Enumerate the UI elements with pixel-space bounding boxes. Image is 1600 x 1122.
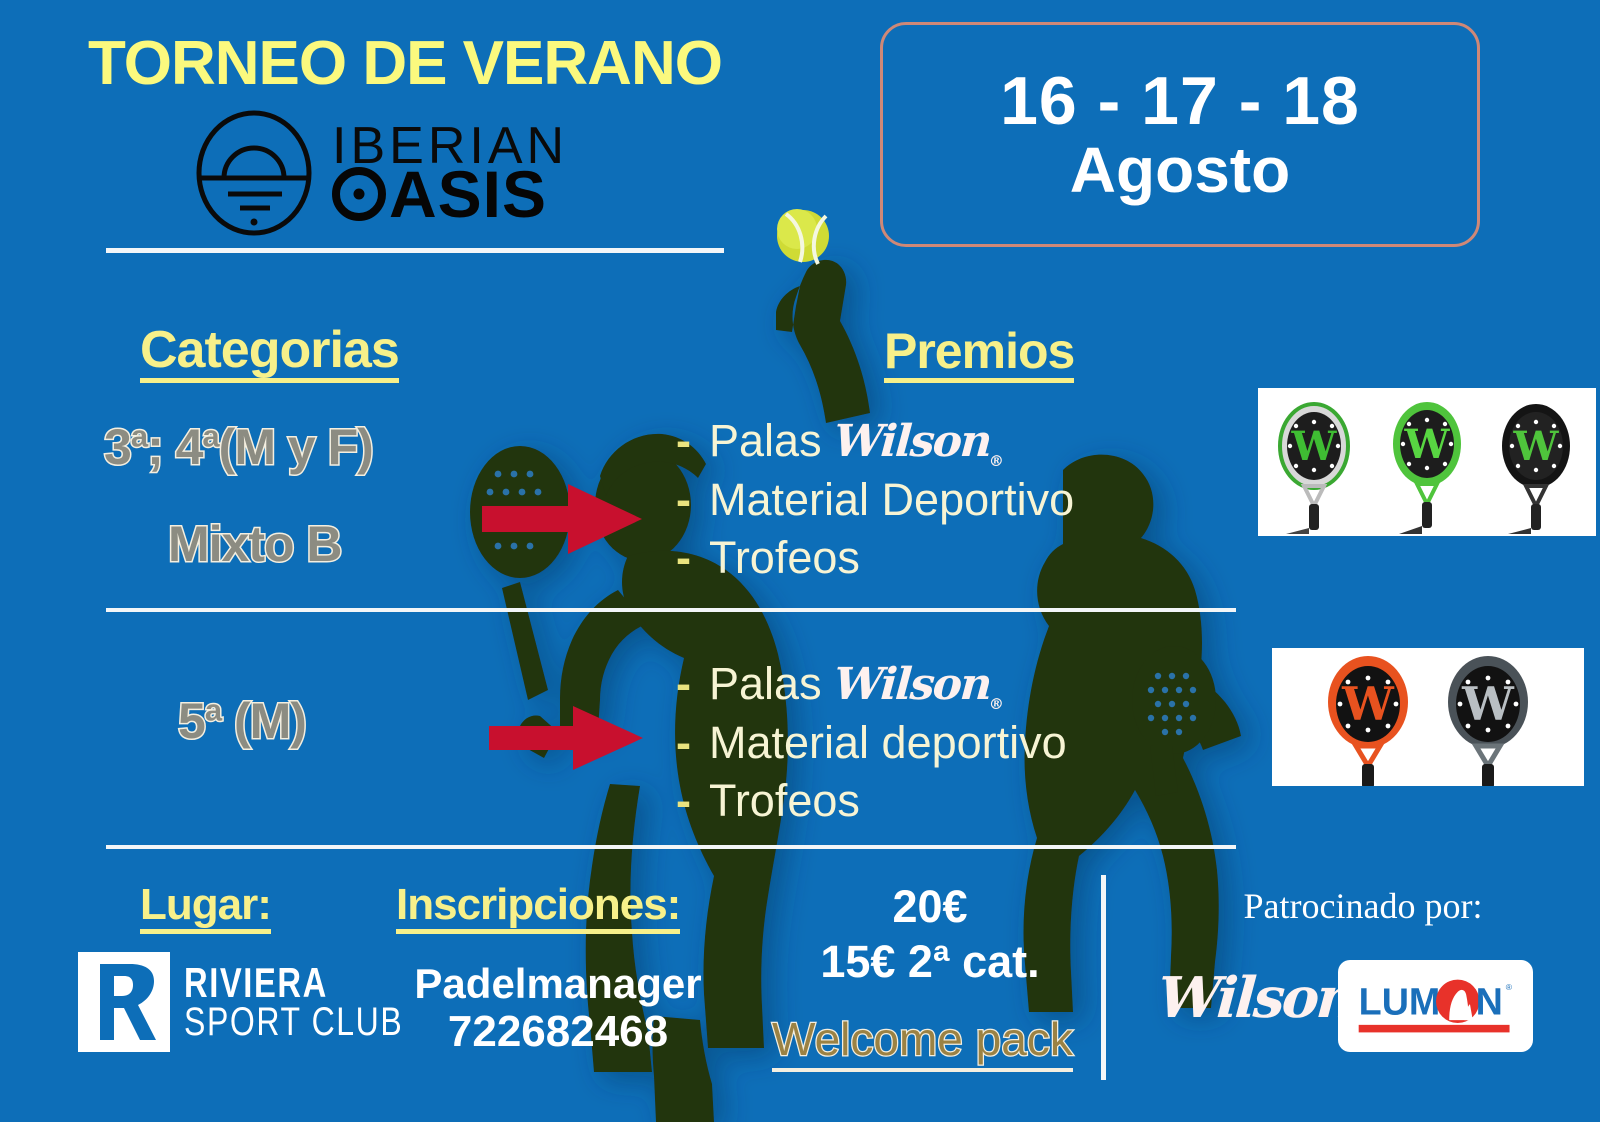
category-3-sup1: a (205, 692, 221, 727)
prize-dash: - (676, 412, 691, 470)
pricing-block: 20€ 15€ 2ª cat. (770, 880, 1090, 990)
prize-label: Palas (709, 658, 834, 709)
registration-phone: 722682468 (408, 1007, 708, 1056)
date-box: 16 - 17 - 18 Agosto (880, 22, 1480, 247)
venue-heading-text: Lugar: (140, 883, 271, 934)
registration-heading-text: Inscripciones: (396, 883, 680, 934)
price-second-category: 15€ 2ª cat. (770, 935, 1090, 990)
divider-category-1 (106, 608, 1236, 612)
categories-heading: Categorias (140, 320, 399, 383)
lumon-text-left: LUM (1358, 980, 1440, 1022)
racket-image-card-1: W W (1258, 388, 1596, 536)
registered-mark: ® (988, 452, 1002, 470)
prize-label: Material deportivo (709, 714, 1067, 772)
prize-item: - Palas Wilson® (676, 412, 1074, 471)
category-1-mid: ; 4 (147, 419, 202, 475)
svg-text:W: W (1404, 421, 1451, 468)
sponsors-heading: Patrocinado por: (1128, 885, 1598, 927)
divider-header (106, 248, 724, 253)
riviera-sport-club-logo: RIVIERA SPORT CLUB (78, 952, 458, 1052)
two-wilson-rackets-image: W W (1272, 648, 1584, 786)
wilson-sponsor-logo: Wilson® (1158, 965, 1368, 1033)
registration-heading: Inscripciones: (396, 880, 680, 934)
prize-dash: - (676, 655, 691, 713)
prize-dash: - (676, 772, 691, 830)
welcome-pack-label: Welcome pack (772, 1012, 1073, 1072)
lumon-underline-bar (1358, 1025, 1509, 1033)
tennis-ball-icon (777, 209, 829, 264)
wilson-brand-logo: Wilson® (832, 657, 1005, 714)
category-1-sup1: a (131, 418, 147, 453)
wilson-wordmark: Wilson (832, 416, 992, 467)
red-arrow-right-icon (489, 706, 643, 770)
brand-line-oasis: ASIS (332, 167, 568, 221)
prize-item: - Trofeos (676, 772, 1067, 830)
tournament-poster: TORNEO DE VERANO IBERIAN ASIS 16 - 17 - … (0, 0, 1600, 1122)
prizes-heading: Premios (884, 322, 1074, 383)
prize-dash: - (676, 529, 691, 587)
prize-dash: - (676, 714, 691, 772)
divider-category-2 (106, 845, 1236, 849)
svg-text:W: W (1291, 423, 1338, 470)
svg-text:W: W (1341, 677, 1395, 731)
red-arrow-right-icon (482, 484, 642, 554)
lumon-wordmark: LUM N ® (1351, 973, 1521, 1039)
prize-item: - Material deportivo (676, 714, 1067, 772)
wilson-brand-logo: Wilson® (832, 414, 1005, 471)
svg-text:W: W (1513, 423, 1560, 470)
prizes-heading-text: Premios (884, 326, 1074, 383)
club-name-line2: SPORT CLUB (184, 1003, 403, 1041)
wilson-text: Wilson (1156, 965, 1357, 1031)
prize-label: Trofeos (709, 529, 860, 587)
prize-text: Palas Wilson® (709, 412, 1003, 471)
category-item-1: 3a; 4a(M y F) (104, 418, 373, 476)
prize-list-block-2: - Palas Wilson® - Material deportivo - T… (676, 655, 1067, 829)
registration-platform: Padelmanager (408, 960, 708, 1007)
three-wilson-rackets-image: W W (1258, 388, 1596, 536)
oasis-sunset-circle-icon (190, 108, 318, 238)
prize-list-block-1: - Palas Wilson® - Material Deportivo - T… (676, 412, 1074, 586)
racket-image-card-2: W W (1272, 648, 1584, 786)
date-month: Agosto (1070, 137, 1290, 204)
prize-item: - Palas Wilson® (676, 655, 1067, 714)
iberian-oasis-logo: IBERIAN ASIS (190, 108, 568, 238)
page-title: TORNEO DE VERANO (88, 28, 722, 99)
category-1-main: 3 (104, 419, 131, 475)
wilson-wordmark: Wilson (832, 659, 992, 710)
category-3-main: 5 (178, 693, 205, 749)
prize-text: Palas Wilson® (709, 655, 1003, 714)
category-1-tail: (M y F) (219, 419, 373, 475)
category-item-3: 5a (M) (178, 692, 306, 750)
riviera-r-monogram (78, 952, 170, 1052)
category-3-tail: (M) (221, 693, 306, 749)
category-item-2: Mixto B (168, 515, 342, 573)
price-full: 20€ (770, 880, 1090, 935)
prize-item: - Material Deportivo (676, 471, 1074, 529)
category-1-sup2: a (202, 418, 218, 453)
registration-details: Padelmanager 722682468 (408, 960, 708, 1056)
oasis-o-glyph-icon (332, 167, 386, 221)
prize-label: Palas (709, 415, 834, 466)
registered-mark: ® (988, 695, 1002, 713)
venue-heading: Lugar: (140, 880, 271, 934)
lumon-registered-mark: ® (1505, 982, 1512, 992)
svg-text:W: W (1461, 677, 1515, 731)
date-days: 16 - 17 - 18 (1000, 66, 1360, 137)
prize-item: - Trofeos (676, 529, 1074, 587)
prize-label: Trofeos (709, 772, 860, 830)
divider-vertical-sponsors (1101, 875, 1106, 1080)
brand-oasis-rest: ASIS (389, 167, 547, 221)
lumon-text-right: N (1475, 980, 1502, 1022)
categories-heading-text: Categorias (140, 324, 399, 383)
prize-label: Material Deportivo (709, 471, 1074, 529)
prize-dash: - (676, 471, 691, 529)
club-name-line1: RIVIERA (184, 963, 398, 1003)
lumon-sponsor-logo: LUM N ® (1338, 960, 1533, 1052)
